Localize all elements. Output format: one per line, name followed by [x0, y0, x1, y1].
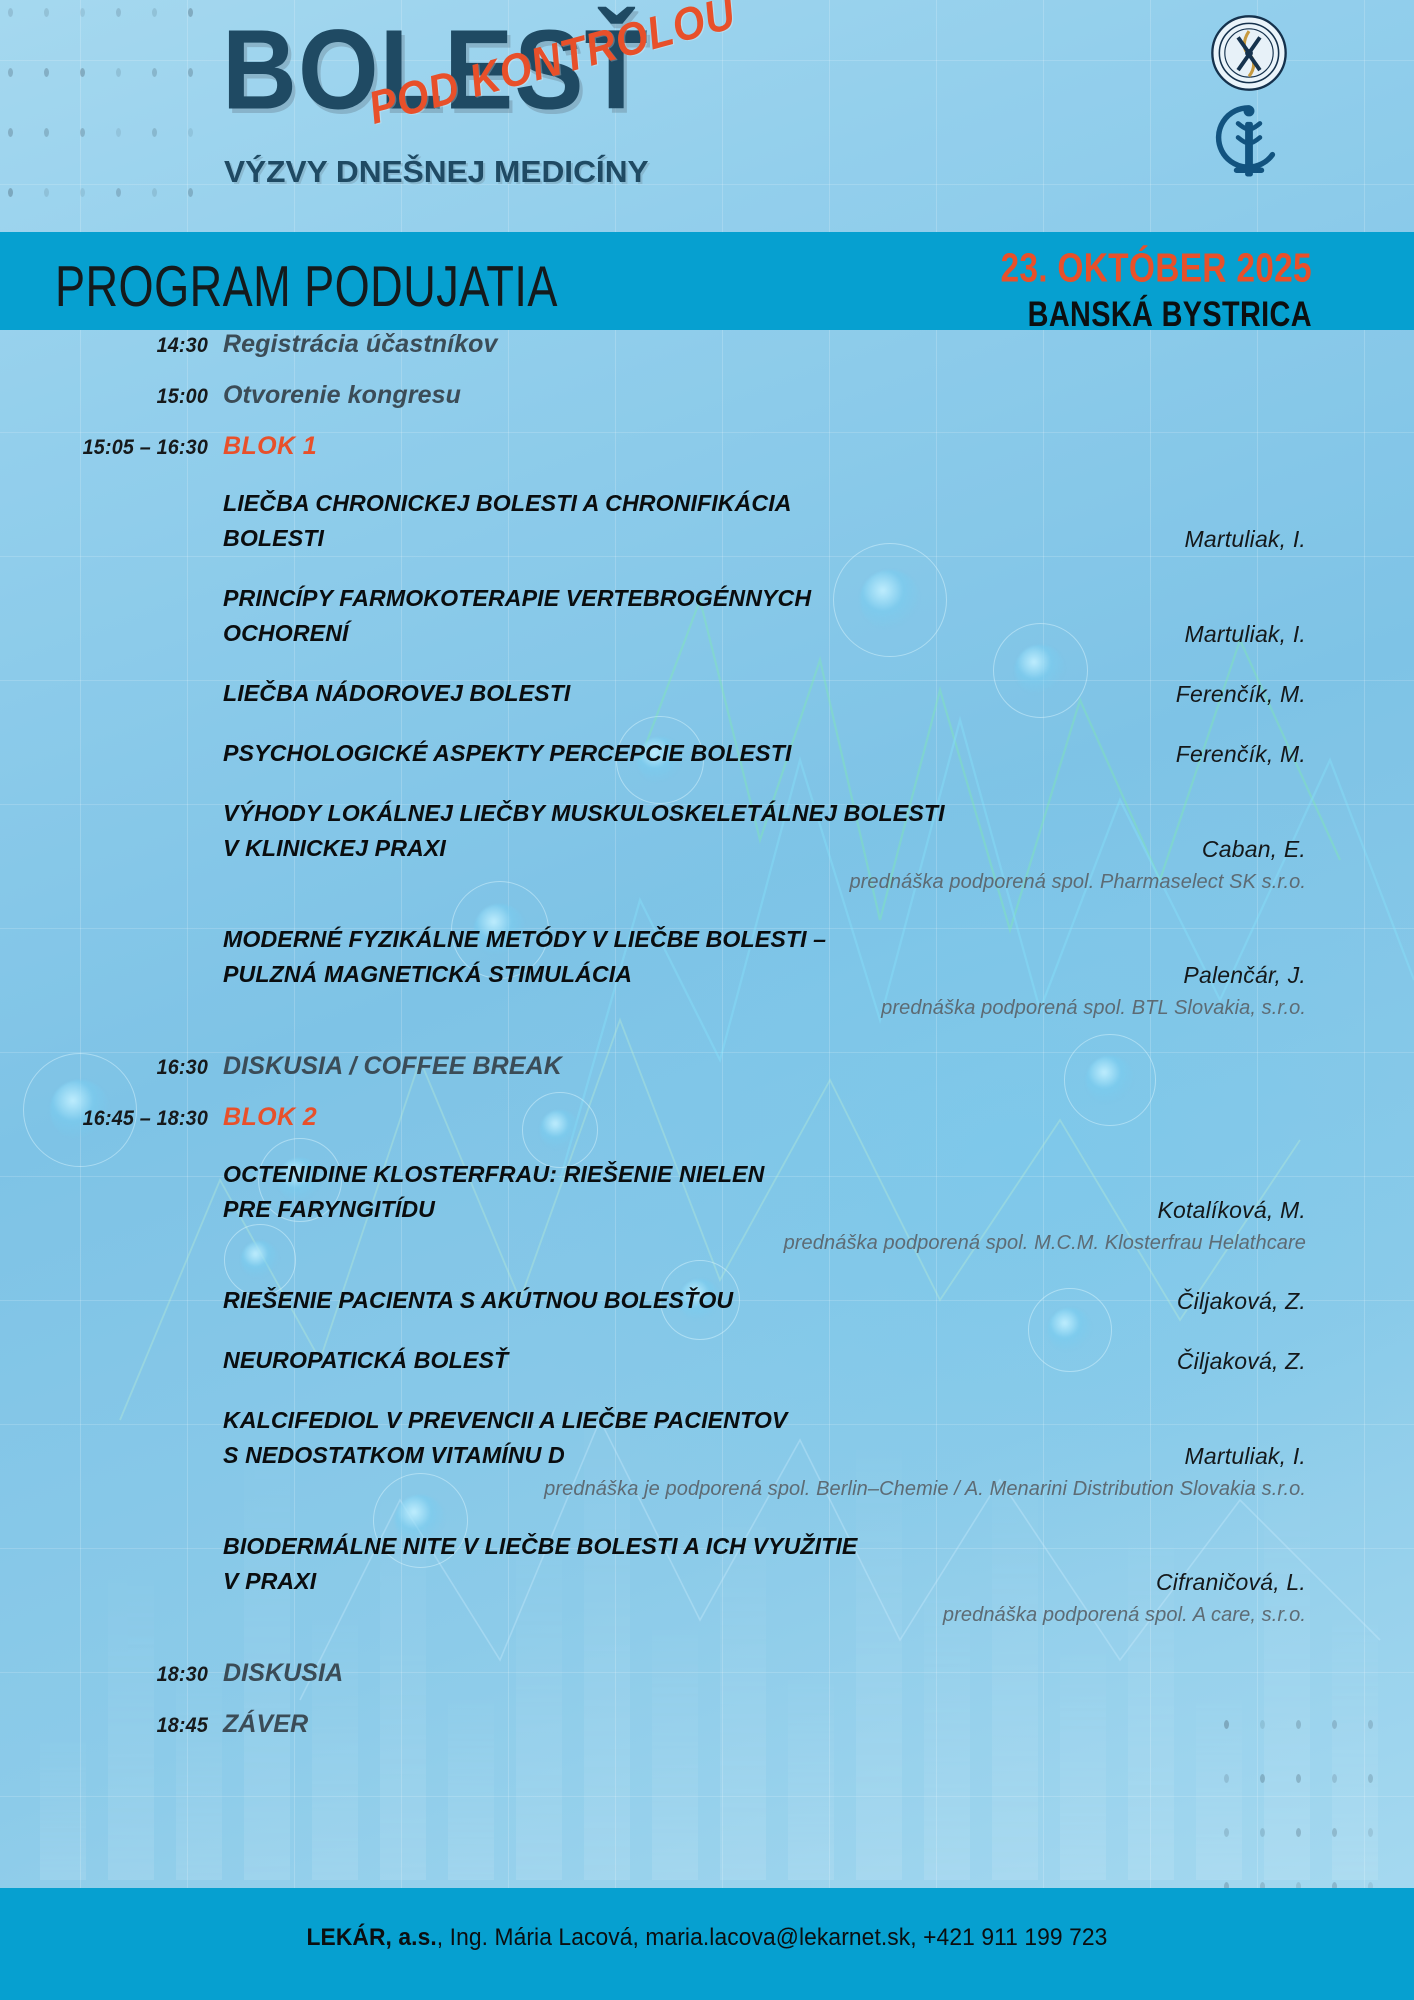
program-row-time: 16:30: [12, 1056, 208, 1080]
poster-footer: LEKÁR, a.s., Ing. Mária Lacová, maria.la…: [0, 1888, 1414, 2000]
program-row-time: 18:30: [12, 1663, 208, 1687]
program-row-label: ZÁVER: [223, 1710, 308, 1739]
lecture-speaker: Čiljaková, Z.: [1177, 1348, 1306, 1375]
lecture-title-line: PRE FARYNGITÍDU: [223, 1196, 435, 1223]
program-row-time: 16:45 – 18:30: [12, 1107, 208, 1131]
program-row-label: DISKUSIA / COFFEE BREAK: [223, 1052, 562, 1081]
lecture-speaker: Martuliak, I.: [1185, 526, 1306, 553]
lecture-title-line: V PRAXI: [223, 1568, 316, 1595]
footer-contact-details: , Ing. Mária Lacová, maria.lacova@lekarn…: [437, 1924, 1108, 1951]
program-row-label: DISKUSIA: [223, 1659, 343, 1688]
lecture-title-line: OCHORENÍ: [223, 620, 349, 647]
lecture-title-line: BIODERMÁLNE NITE V LIEČBE BOLESTI A ICH …: [223, 1533, 857, 1560]
program-title-band: PROGRAM PODUJATIA 23. OKTÓBER 2025 BANSK…: [0, 232, 1414, 330]
lecture-title-line: OCTENIDINE KLOSTERFRAU: RIEŠENIE NIELEN: [223, 1161, 764, 1188]
poster-root: BOLESŤ POD KONTROLOU VÝZVY DNEŠNEJ MEDIC…: [0, 0, 1414, 2000]
footer-contact: LEKÁR, a.s., Ing. Mária Lacová, maria.la…: [35, 1924, 1378, 1952]
lecture-support-note: prednáška podporená spol. Pharmaselect S…: [849, 871, 1306, 894]
lecture-support-note: prednáška podporená spol. M.C.M. Kloster…: [784, 1232, 1306, 1255]
lecture-title-line: PULZNÁ MAGNETICKÁ STIMULÁCIA: [223, 961, 632, 988]
event-date-location: 23. OKTÓBER 2025 BANSKÁ BYSTRICA: [977, 244, 1312, 330]
event-city: BANSKÁ BYSTRICA: [1001, 294, 1312, 335]
lecture-title-line: KALCIFEDIOL V PREVENCII A LIEČBE PACIENT…: [223, 1407, 787, 1434]
lecture-title-line: S NEDOSTATKOM VITAMÍNU D: [223, 1442, 565, 1469]
program-row-time: 15:05 – 16:30: [12, 436, 208, 460]
lecture-speaker: Čiljaková, Z.: [1177, 1288, 1306, 1315]
program-row-time: 18:45: [12, 1714, 208, 1738]
lecture-support-note: prednáška podporená spol. A care, s.r.o.: [943, 1604, 1306, 1627]
program-row-time: 14:30: [12, 334, 208, 358]
lecture-title-line: NEUROPATICKÁ BOLESŤ: [223, 1347, 508, 1374]
program-block-label: BLOK 1: [223, 432, 317, 461]
lecture-support-note: prednáška podporená spol. BTL Slovakia, …: [881, 997, 1306, 1020]
program-row-label: Otvorenie kongresu: [223, 381, 461, 410]
lecture-title-line: VÝHODY LOKÁLNEJ LIEČBY MUSKULOSKELETÁLNE…: [223, 800, 945, 827]
event-date: 23. OKTÓBER 2025: [1001, 244, 1312, 292]
lecture-title-line: BOLESTI: [223, 525, 324, 552]
lecture-title-line: PRINCÍPY FARMOKOTERAPIE VERTEBROGÉNNYCH: [223, 585, 811, 612]
program-schedule-list: 14:30Registrácia účastníkov15:00Otvoreni…: [0, 330, 1414, 1888]
lecture-title-line: LIEČBA NÁDOROVEJ BOLESTI: [223, 680, 570, 707]
lecture-title-line: PSYCHOLOGICKÉ ASPEKTY PERCEPCIE BOLESTI: [223, 740, 791, 767]
program-title: PROGRAM PODUJATIA: [55, 254, 558, 320]
slovak-chamber-logo-icon: [1210, 100, 1288, 182]
lecture-speaker: Martuliak, I.: [1185, 621, 1306, 648]
slovak-medical-society-logo-icon: [1210, 14, 1288, 92]
program-block-label: BLOK 2: [223, 1103, 317, 1132]
lecture-title-line: RIEŠENIE PACIENTA S AKÚTNOU BOLESŤOU: [223, 1287, 733, 1314]
lecture-speaker: Palenčár, J.: [1183, 962, 1306, 989]
lecture-title-line: V KLINICKEJ PRAXI: [223, 835, 446, 862]
lecture-speaker: Ferenčík, M.: [1176, 741, 1306, 768]
event-logo: BOLESŤ POD KONTROLOU VÝZVY DNEŠNEJ MEDIC…: [222, 14, 782, 174]
lecture-speaker: Kotalíková, M.: [1157, 1197, 1306, 1224]
lecture-speaker: Ferenčík, M.: [1176, 681, 1306, 708]
logo-subtitle-text: VÝZVY DNEŠNEJ MEDICÍNY: [224, 154, 649, 190]
program-row-label: Registrácia účastníkov: [223, 330, 498, 359]
poster-header: BOLESŤ POD KONTROLOU VÝZVY DNEŠNEJ MEDIC…: [0, 0, 1414, 232]
lecture-speaker: Martuliak, I.: [1185, 1443, 1306, 1470]
lecture-speaker: Caban, E.: [1202, 836, 1306, 863]
lecture-speaker: Cifraničová, L.: [1156, 1569, 1306, 1596]
lecture-title-line: MODERNÉ FYZIKÁLNE METÓDY V LIEČBE BOLEST…: [223, 926, 826, 953]
lecture-title-line: LIEČBA CHRONICKEJ BOLESTI A CHRONIFIKÁCI…: [223, 490, 792, 517]
footer-company-name: LEKÁR, a.s.: [307, 1924, 437, 1951]
program-row-time: 15:00: [12, 385, 208, 409]
lecture-support-note: prednáška je podporená spol. Berlin–Chem…: [544, 1478, 1306, 1501]
